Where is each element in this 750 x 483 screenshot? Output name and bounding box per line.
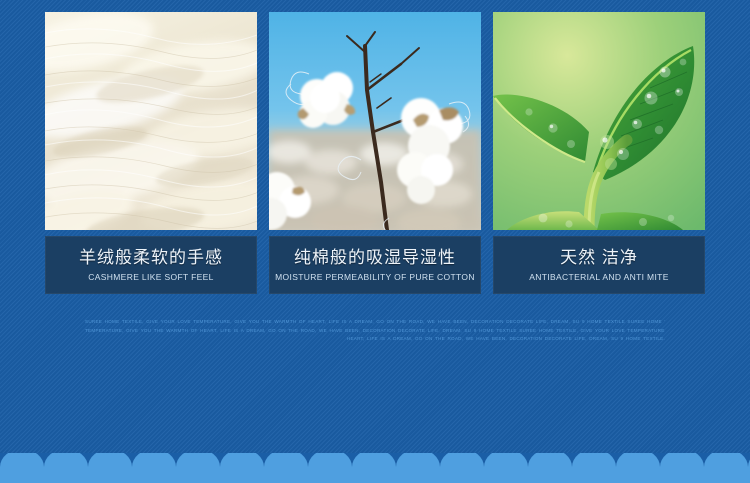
microcopy-line: HEART, LIFE IS A DREAM, GO ON THE ROAD, … (85, 335, 665, 344)
feature-card[interactable]: 天然 洁净 ANTIBACTERIAL AND ANTI MITE (493, 12, 705, 294)
feature-caption: 纯棉般的吸湿导湿性 MOISTURE PERMEABILITY OF PURE … (269, 236, 481, 294)
promo-page: 羊绒般柔软的手感 CASHMERE LIKE SOFT FEEL (0, 0, 750, 483)
caption-title-en: CASHMERE LIKE SOFT FEEL (88, 270, 214, 284)
feature-card[interactable]: 羊绒般柔软的手感 CASHMERE LIKE SOFT FEEL (45, 12, 257, 294)
caption-title-cn: 天然 洁净 (560, 247, 638, 268)
feature-caption: 天然 洁净 ANTIBACTERIAL AND ANTI MITE (493, 236, 705, 294)
green-leaf-dew-photo (493, 12, 705, 230)
caption-title-cn: 纯棉般的吸湿导湿性 (294, 247, 456, 268)
feature-card-row: 羊绒般柔软的手感 CASHMERE LIKE SOFT FEEL (45, 12, 705, 294)
marketing-microcopy: SUREE HOME TEXTILE, GIVE YOUR LOVE TEMPE… (85, 318, 665, 344)
caption-title-cn: 羊绒般柔软的手感 (79, 247, 223, 268)
microcopy-line: SUREE HOME TEXTILE, GIVE YOUR LOVE TEMPE… (85, 318, 665, 327)
feature-caption: 羊绒般柔软的手感 CASHMERE LIKE SOFT FEEL (45, 236, 257, 294)
caption-title-en: MOISTURE PERMEABILITY OF PURE COTTON (275, 270, 475, 284)
scalloped-bottom-band (0, 453, 750, 483)
microcopy-line: TEMPERATURE, GIVE YOU THE WARMTH OF HEAR… (85, 327, 665, 336)
caption-title-en: ANTIBACTERIAL AND ANTI MITE (529, 270, 669, 284)
feature-card[interactable]: 纯棉般的吸湿导湿性 MOISTURE PERMEABILITY OF PURE … (269, 12, 481, 294)
cashmere-wool-texture-photo (45, 12, 257, 230)
cotton-bolls-photo (269, 12, 481, 230)
